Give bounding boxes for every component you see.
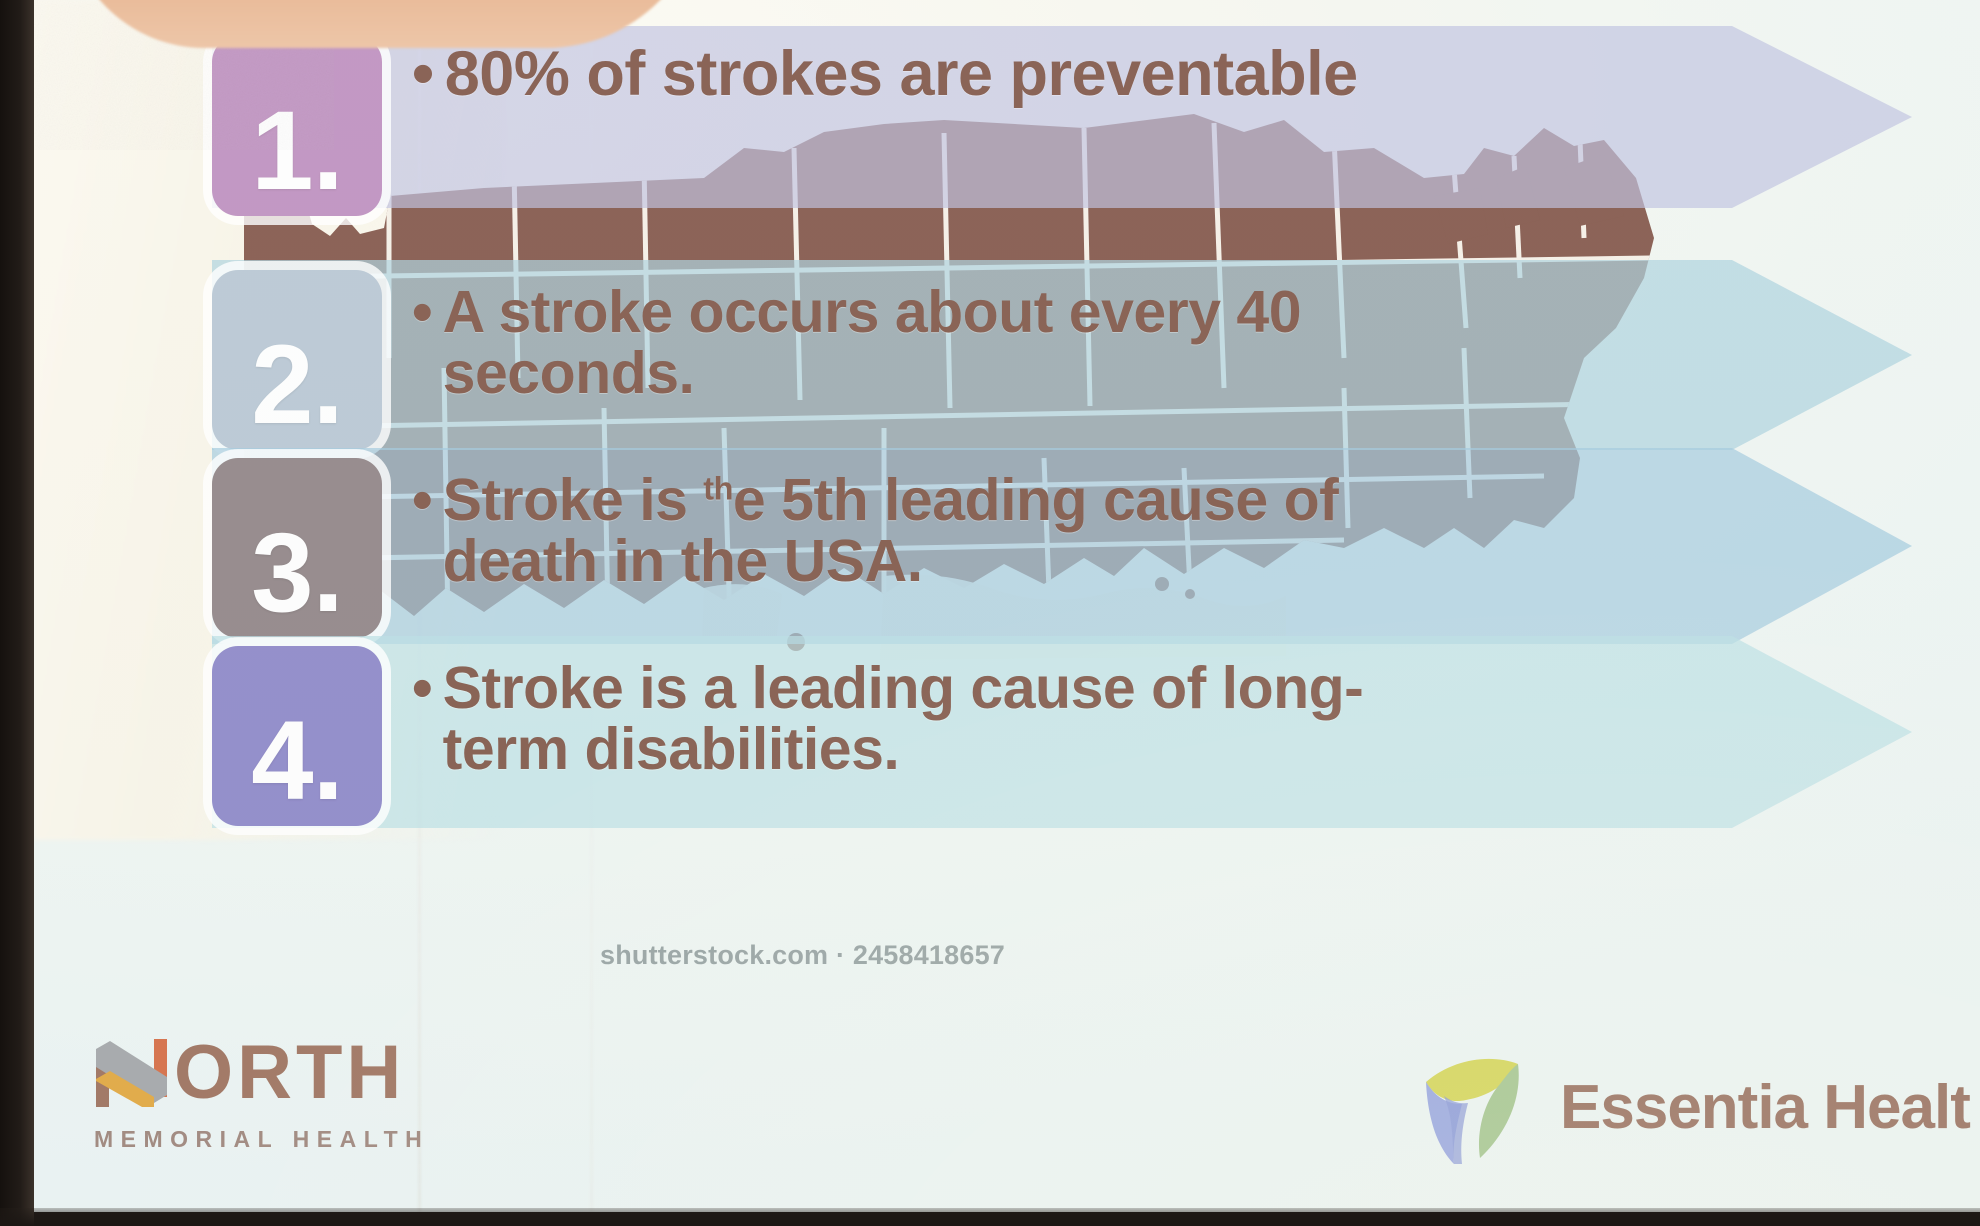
fact-text-4: •Stroke is a leading cause of long- term…	[412, 658, 1742, 781]
bullet-4: •	[412, 658, 443, 719]
fact-line-3-1: •Stroke is the 5th leading cause of	[412, 470, 1742, 531]
bullet-2: •	[412, 282, 443, 343]
essentia-leaf-icon	[1414, 1046, 1534, 1168]
fact-number-badge-4: 4.	[212, 646, 382, 826]
fact-line-4-1: Stroke is a leading cause of long-	[443, 655, 1364, 721]
essentia-health-logo: Essentia Healt	[1414, 1046, 1970, 1168]
fact-number-4: 4.	[251, 706, 342, 826]
fact-line-3-2: death in the USA.	[412, 531, 1742, 592]
screen-bezel-left	[0, 0, 34, 1226]
bullet-3: •	[412, 470, 443, 531]
fact-text-3: •Stroke is the 5th leading cause of deat…	[412, 470, 1742, 593]
north-memorial-health-logo: ORTH MEMORIAL HEALTH	[94, 1030, 514, 1153]
slide-surface: 1. •80% of strokes are preventable 2. •A…	[34, 0, 1980, 1212]
fact-number-2: 2.	[251, 330, 342, 450]
north-wordmark-text: ORTH	[174, 1039, 405, 1107]
fact-number-badge-2: 2.	[212, 270, 382, 450]
north-tagline: MEMORIAL HEALTH	[94, 1126, 514, 1153]
fact-text-2: •A stroke occurs about every 40 seconds.	[412, 282, 1742, 405]
fact-line-1-1: 80% of strokes are preventable	[445, 39, 1358, 109]
shutterstock-watermark: shutterstock.com · 2458418657	[600, 940, 1005, 971]
essentia-wordmark-text: Essentia Healt	[1560, 1072, 1970, 1143]
fact-line-2-2: seconds.	[412, 343, 1742, 404]
fact-text-1: •80% of strokes are preventable	[412, 42, 1742, 108]
fact-line-4-2: term disabilities.	[412, 719, 1742, 780]
fact-line-2-1: A stroke occurs about every 40	[443, 279, 1301, 345]
fact-number-badge-1: 1.	[212, 36, 382, 216]
fact-number-badge-3: 3.	[212, 458, 382, 638]
fact-number-3: 3.	[251, 518, 342, 638]
ordinal-superscript: th	[703, 470, 733, 506]
photo-of-projected-slide: 1. •80% of strokes are preventable 2. •A…	[0, 0, 1980, 1226]
north-n-mark-icon	[94, 1035, 172, 1111]
screen-bezel-bottom	[0, 1208, 1980, 1226]
fact-number-1: 1.	[251, 96, 342, 216]
bullet-1: •	[412, 42, 445, 108]
